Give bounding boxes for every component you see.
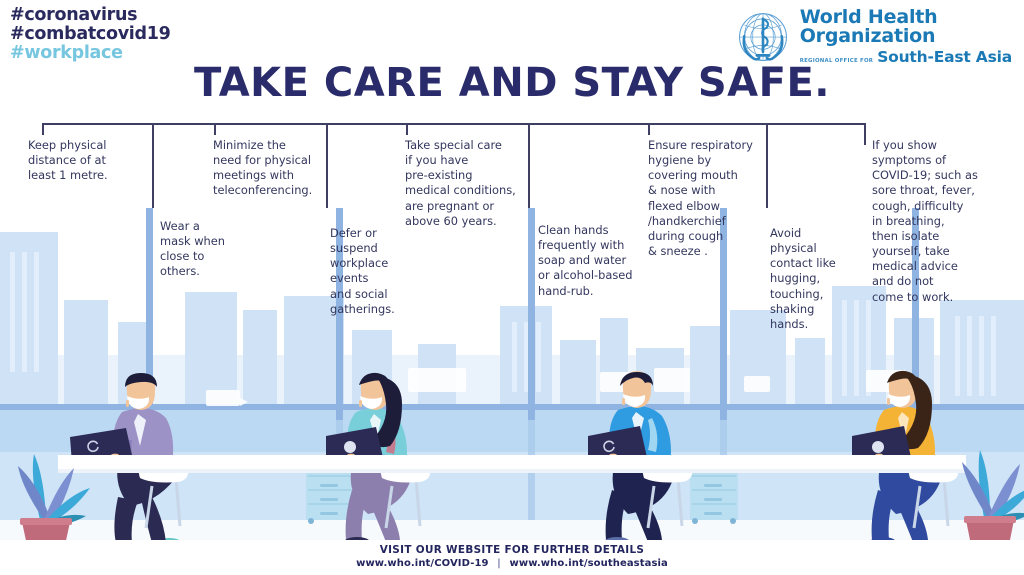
callout-physical-distance: Keep physical distance of at least 1 met… <box>28 138 148 183</box>
callout-symptoms: If you show symptoms of COVID-19; such a… <box>872 138 982 305</box>
footer-urls: www.who.int/COVID-19 | www.who.int/south… <box>0 558 1024 569</box>
office-illustration <box>0 0 1024 575</box>
footer-separator: | <box>492 558 506 569</box>
callout-avoid-contact: Avoid physical contact like hugging, tou… <box>770 226 852 332</box>
callout-wear-mask: Wear a mask when close to others. <box>160 219 240 280</box>
desk-top <box>58 455 966 469</box>
footer-url-covid[interactable]: www.who.int/COVID-19 <box>356 558 488 569</box>
desk-edge <box>58 469 966 473</box>
callout-clean-hands: Clean hands frequently with soap and wat… <box>538 223 642 299</box>
window-sill <box>0 404 1024 410</box>
callout-special-care: Take special care if you have pre-existi… <box>405 138 523 229</box>
scene-contents <box>0 208 1024 575</box>
callout-minimize-meetings: Minimize the need for physical meetings … <box>213 138 323 199</box>
infographic-poster: #coronavirus #combatcovid19 #workplace T… <box>0 0 1024 575</box>
callout-defer-events: Defer or suspend workplace events and so… <box>330 226 402 317</box>
footer-url-searo[interactable]: www.who.int/southeastasia <box>510 558 668 569</box>
callout-respiratory-hygiene: Ensure respiratory hygiene by covering m… <box>648 138 764 259</box>
footer-headline: VISIT OUR WEBSITE FOR FURTHER DETAILS <box>0 544 1024 556</box>
footer: VISIT OUR WEBSITE FOR FURTHER DETAILS ww… <box>0 544 1024 569</box>
